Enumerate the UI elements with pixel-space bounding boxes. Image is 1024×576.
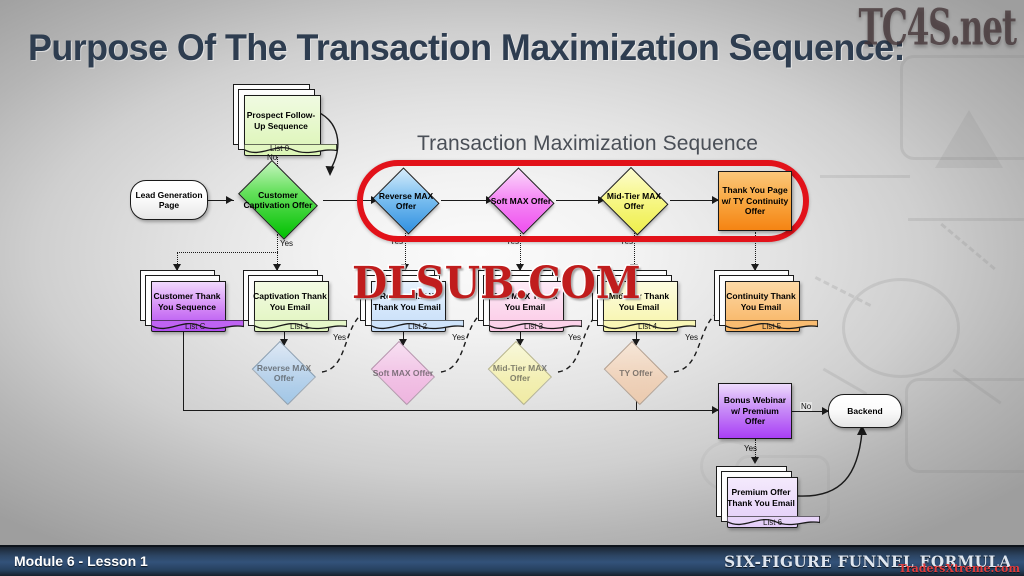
edge-label-yes-g1: Yes [333,333,346,342]
node-thankyou-page[interactable]: Thank You Page w/ TY Continuity Offer [718,171,792,231]
edge-customer-seq-down [183,326,184,411]
slide-canvas: Purpose Of The Transaction Maximization … [0,0,1024,576]
node-label: Captivation Thank You Email [243,290,329,312]
page-title: Purpose Of The Transaction Maximization … [28,27,905,69]
node-customer-ty-sequence[interactable]: Customer Thank You Sequence [140,270,226,332]
node-label: Backend [845,406,884,416]
edge-label-no-prospect: No [267,153,277,162]
node-label: Customer Captivation Offer [232,190,324,211]
node-label: Mid-Tier MAX Offer [597,191,671,212]
node-ghost-reverse-max: Reverse MAX Offer [248,345,320,401]
edge-label-yes-reverse: Yes [390,237,403,246]
watermark-tradersxtreme: TradersXtreme.com [898,562,1020,575]
node-label: Prospect Follow-Up Sequence [233,109,321,131]
node-label: Thank You Page w/ TY Continuity Offer [719,185,791,216]
bg-doodle-line-3 [823,368,868,396]
node-label: Soft MAX Offer [371,368,435,378]
bg-doodle-triangle [935,110,1003,168]
node-label: Mid-Tier MAX Offer [484,363,556,384]
list-label-prospect: List 0 [270,144,289,153]
edge-label-yes-g2: Yes [452,333,465,342]
node-captivation-ty-email[interactable]: Captivation Thank You Email [243,270,329,332]
list-label-midtier: List 4 [638,322,657,331]
bg-doodle-line-2 [952,369,1001,405]
bg-doodle-line-4 [820,175,910,178]
node-label: Reverse MAX Offer [370,191,442,212]
edge-label-yes-g4: Yes [685,333,698,342]
watermark-tc4s: TC4S.net [859,0,1016,57]
node-label: Bonus Webinar w/ Premium Offer [719,395,791,426]
arrowhead [751,457,759,464]
node-lead-generation-page[interactable]: Lead Generation Page [130,180,208,220]
node-label: Lead Generation Page [131,190,207,211]
node-label: Premium Offer Thank You Email [716,486,798,508]
node-label: Customer Thank You Sequence [140,290,226,312]
node-backend[interactable]: Backend [828,394,902,428]
bg-doodle-rect-1 [900,55,1024,160]
edge-bottom-run-to-bonus [183,410,723,411]
edge-label-no-bonus: No [800,402,812,411]
bg-doodle-dash-2 [815,276,872,307]
node-ghost-midtier-max: Mid-Tier MAX Offer [484,345,556,401]
bg-doodle-dash-1 [940,223,996,270]
footer-module-label: Module 6 - Lesson 1 [14,553,148,569]
list-label-soft: List 3 [524,322,543,331]
node-soft-max-offer[interactable]: Soft MAX Offer [485,170,557,232]
node-midtier-max-offer[interactable]: Mid-Tier MAX Offer [597,170,671,232]
node-bonus-webinar[interactable]: Bonus Webinar w/ Premium Offer [718,383,792,439]
list-label-reverse: List 2 [408,322,427,331]
node-ghost-soft-max: Soft MAX Offer [367,345,439,401]
bg-doodle-circle [842,278,960,378]
edge-label-yes-soft: Yes [506,237,519,246]
node-reverse-max-offer[interactable]: Reverse MAX Offer [370,170,442,232]
edge-label-yes-captivation: Yes [280,239,293,248]
node-label: Reverse MAX Offer [248,363,320,384]
edge-captivation-to-customer-seq [177,252,278,253]
node-customer-captivation-offer[interactable]: Customer Captivation Offer [232,166,324,234]
list-label-continuity: List 5 [762,322,781,331]
node-label: Soft MAX Offer [489,196,553,206]
node-ghost-ty-offer: TY Offer [600,345,672,401]
node-label: Continuity Thank You Email [714,290,800,312]
list-label-captivation: List 1 [290,322,309,331]
bg-doodle-rect-2 [905,378,1024,473]
node-premium-ty-email[interactable]: Premium Offer Thank You Email [716,466,798,528]
edge-label-yes-g3: Yes [568,333,581,342]
doc-wave-edge [244,144,337,157]
footer-bar: Module 6 - Lesson 1 SIX-FIGURE FUNNEL FO… [0,545,1024,576]
watermark-dlsub: DLSUB.COM [352,258,641,309]
edge-label-yes-bonus: Yes [744,444,757,453]
node-label: TY Offer [617,368,654,378]
bg-doodle-line-1 [908,218,1024,221]
list-label-customer-ty: List C [185,322,205,331]
list-label-premium: List 6 [763,518,782,527]
section-heading: Transaction Maximization Sequence [417,132,758,156]
node-continuity-ty-email[interactable]: Continuity Thank You Email [714,270,800,332]
edge-label-yes-midtier: Yes [620,237,633,246]
